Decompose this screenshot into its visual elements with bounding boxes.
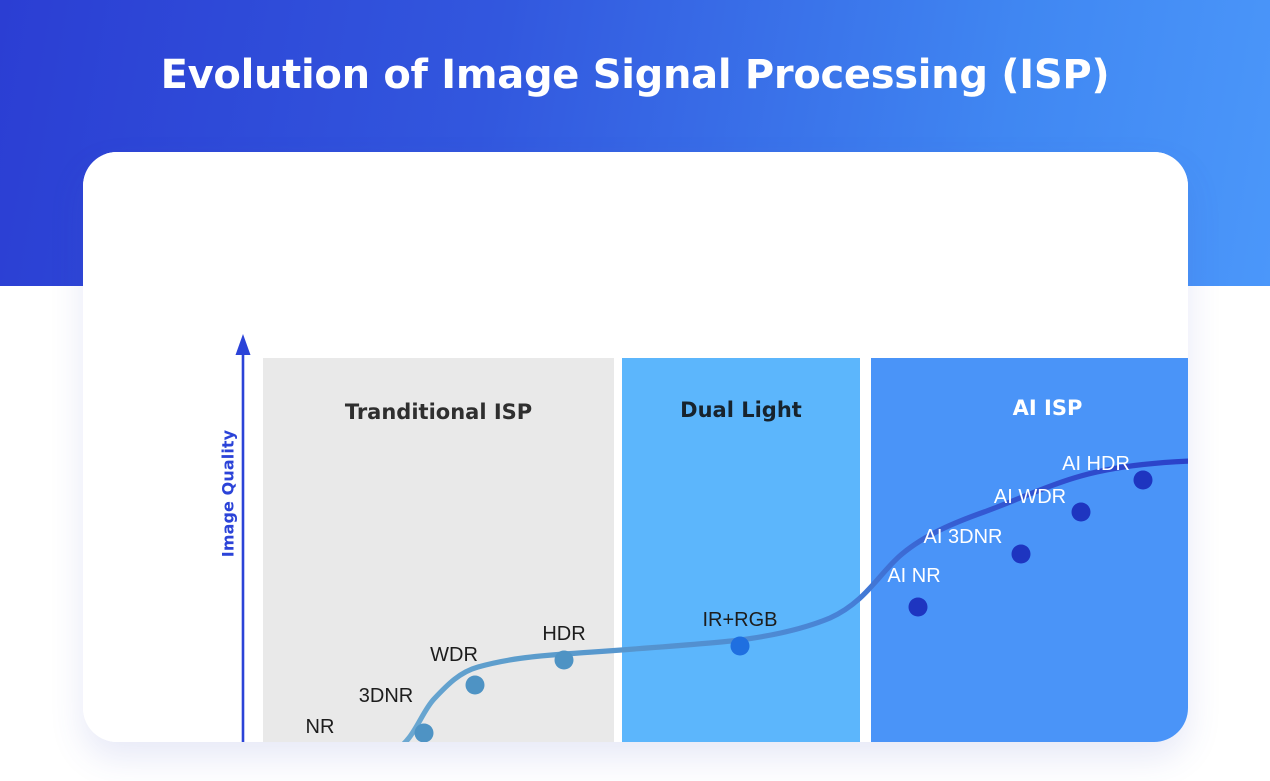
page-title: Evolution of Image Signal Processing (IS… bbox=[0, 52, 1270, 98]
data-label-ai-wdr: AI WDR bbox=[994, 486, 1066, 509]
data-label-ai-hdr: AI HDR bbox=[1062, 453, 1130, 476]
data-point-ai-3dnr[interactable] bbox=[1012, 545, 1031, 564]
y-axis bbox=[236, 334, 251, 742]
chart-plot-area: Tranditional ISP Dual Light AI ISP bbox=[166, 304, 1188, 742]
data-label-nr: NR bbox=[306, 716, 335, 739]
y-axis-title: Image Quality bbox=[219, 414, 238, 574]
data-point-ai-wdr[interactable] bbox=[1072, 503, 1091, 522]
data-point-ai-nr[interactable] bbox=[909, 598, 928, 617]
data-label-3dnr: 3DNR bbox=[359, 685, 413, 708]
data-point-ai-hdr[interactable] bbox=[1134, 471, 1153, 490]
y-axis-arrow-icon bbox=[236, 334, 251, 355]
data-label-ir-rgb: IR+RGB bbox=[702, 609, 777, 632]
data-point-wdr[interactable] bbox=[466, 676, 485, 695]
data-point-3dnr[interactable] bbox=[415, 724, 434, 743]
data-label-ai-3dnr: AI 3DNR bbox=[924, 526, 1003, 549]
data-label-wdr: WDR bbox=[430, 644, 478, 667]
data-point-hdr[interactable] bbox=[555, 651, 574, 670]
chart-canvas bbox=[166, 304, 1188, 742]
data-point-ir-rgb[interactable] bbox=[731, 637, 750, 656]
data-label-hdr: HDR bbox=[542, 623, 585, 646]
chart-card: Tranditional ISP Dual Light AI ISP bbox=[83, 152, 1188, 742]
data-points bbox=[332, 471, 1153, 743]
data-label-ai-nr: AI NR bbox=[887, 565, 940, 588]
